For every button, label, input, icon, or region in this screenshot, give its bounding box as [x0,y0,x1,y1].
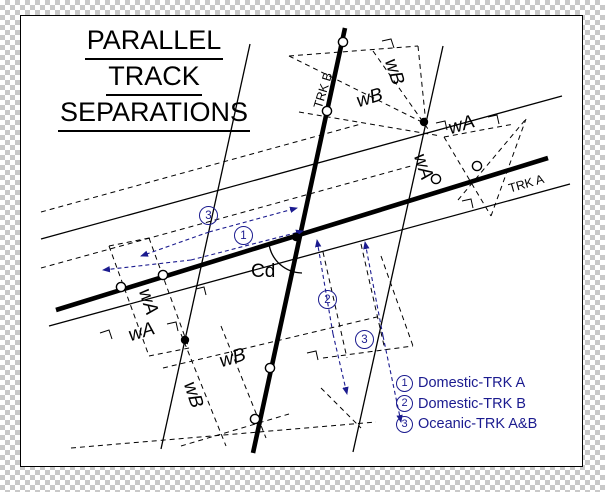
legend-number-3: 3 [396,416,413,433]
diagram-canvas: PARALLEL TRACK SEPARATIONS TRK A TRK B C… [20,15,583,467]
dash-close-ul [109,238,149,246]
legend-label-1: Domestic-TRK A [418,373,525,394]
dim-1-upper [209,208,297,232]
screenshot-root: PARALLEL TRACK SEPARATIONS TRK A TRK B C… [0,0,605,492]
legend-number-2: 2 [396,395,413,412]
dim-2-lower-down [333,334,347,394]
right-angle-bl-a [167,322,178,331]
node-solid-bl [181,336,189,344]
node-open-ur-1 [338,37,347,46]
callout-1-upper-circle: 1 [234,226,253,245]
legend-item-2: 2 Domestic-TRK B [396,394,537,415]
dash-bot-6 [321,388,361,428]
dim-3-lower-up [365,242,383,336]
dash-lr-4 [381,256,413,346]
dim-1-upper-left [141,232,209,256]
right-angle-r-a [462,199,473,208]
node-open-ul-2 [158,270,167,279]
node-open-b-2 [250,414,259,423]
node-open-r-2 [472,161,481,170]
callout-2-lower-circle: 2 [318,290,337,309]
callout-3-upper: 3 [199,206,218,225]
right-angle-r-b [488,115,499,124]
node-open-ul-1 [116,282,125,291]
legend-label-2: Domestic-TRK B [418,394,526,415]
right-angle-ul-b [196,287,206,295]
title-line-3: SEPARATIONS [39,96,269,132]
dim-2-lower [317,240,333,334]
right-angle-ur-a [382,39,394,48]
callout-3-lower: 3 [355,330,374,349]
right-angle-bl-b [307,351,318,360]
dash-bot-5 [181,414,289,446]
legend-item-3: 3 Oceanic-TRK A&B [396,414,537,435]
node-open-b-1 [265,363,274,372]
callout-2-lower: 2 [318,290,337,309]
dash-bot-2 [71,422,376,448]
right-angle-ul-a [100,330,112,339]
title-line-2: TRACK [39,60,269,96]
dash-b-up-2 [418,46,426,124]
node-solid-ur [420,118,428,126]
node-solid-center [292,233,300,241]
callout-3-lower-circle: 3 [355,330,374,349]
title-line-1: PARALLEL [39,24,269,60]
callout-3-upper-circle: 3 [199,206,218,225]
dash-b-up-1 [289,46,418,56]
offset-line-a-lower [49,184,570,326]
legend-number-1: 1 [396,375,413,392]
angle-label-cd: Cd [251,261,275,283]
legend-item-1: 1 Domestic-TRK A [396,373,537,394]
callout-1-upper: 1 [234,226,253,245]
legend-label-3: Oceanic-TRK A&B [418,414,537,435]
page-title: PARALLEL TRACK SEPARATIONS [39,24,269,132]
legend: 1 Domestic-TRK A 2 Domestic-TRK B 3 Ocea… [396,373,537,435]
